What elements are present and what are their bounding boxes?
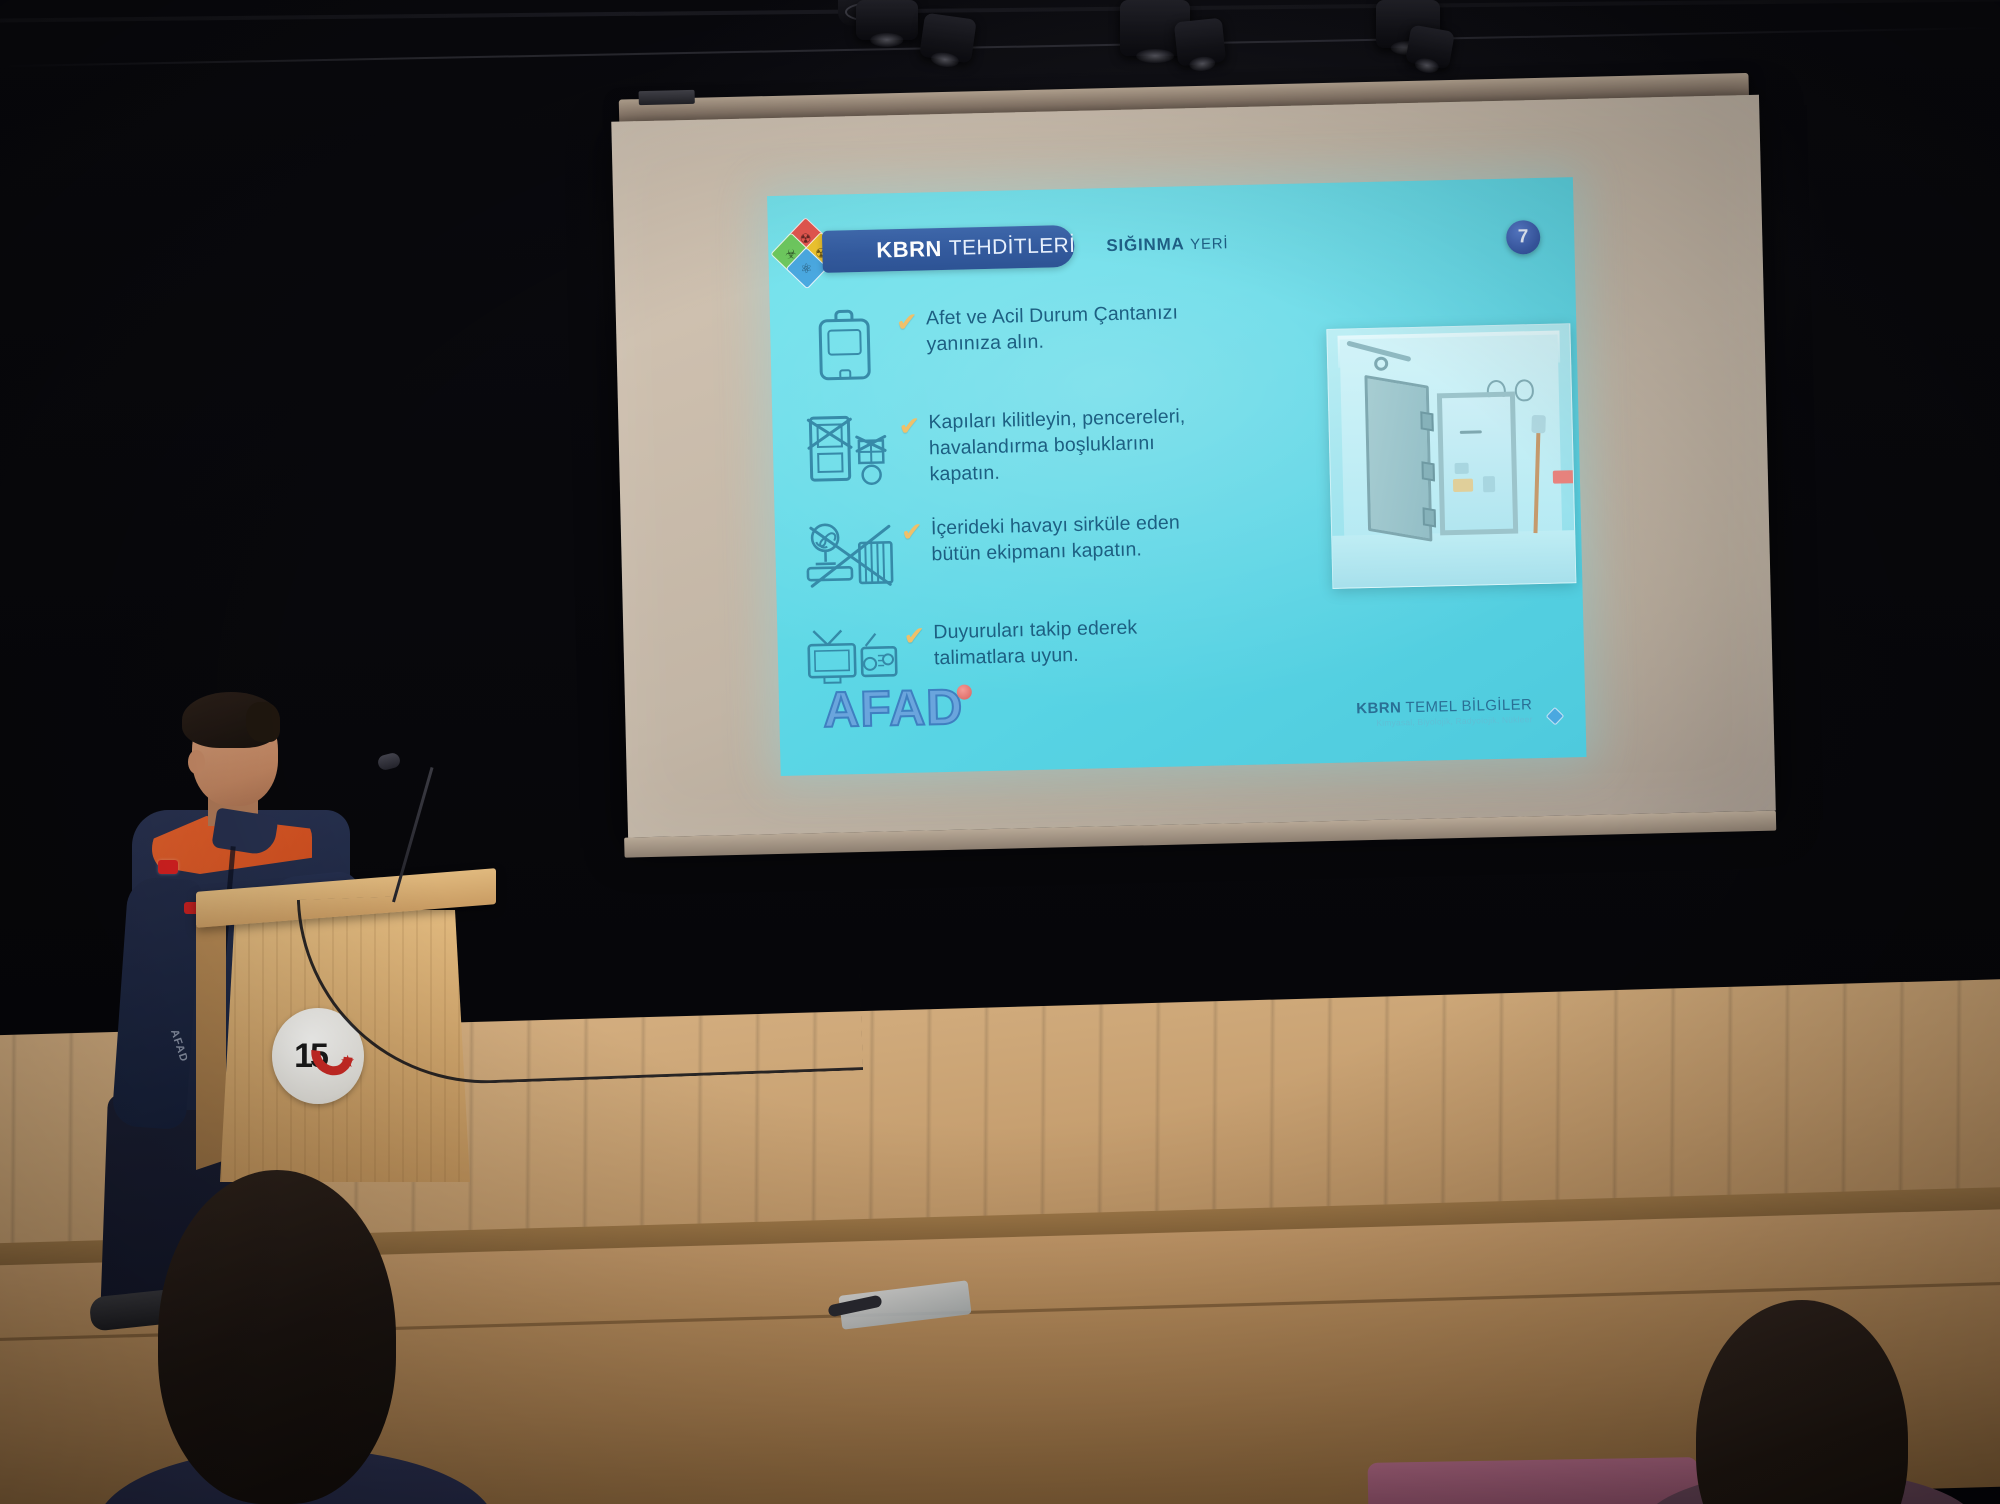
list-item: ✔ İçerideki havayı sirküle eden bütün ek…	[797, 505, 1319, 595]
bullet-text: Afet ve Acil Durum Çantanızı yanınıza al…	[926, 297, 1227, 358]
closed-door-window-icon	[794, 409, 900, 489]
footer-brand-bold: KBRN	[1356, 699, 1401, 717]
fan-ac-radiator-off-icon	[797, 515, 903, 595]
bullet-text: Kapıları kilitleyin, pencereleri, havala…	[928, 401, 1230, 488]
afad-logo: AFAD	[822, 678, 963, 739]
checkmark-icon: ✔	[903, 622, 934, 649]
podium-side	[196, 916, 226, 1170]
presenter-ear	[188, 750, 205, 774]
slide-title-plate: KBRN TEHDİTLERİ	[822, 225, 1075, 273]
bullet-text: İçerideki havayı sirküle eden bütün ekip…	[931, 507, 1232, 568]
footer-brand-normal: TEMEL BİLGİLER	[1405, 696, 1532, 716]
turkish-flag-patch-icon	[158, 860, 178, 874]
projection-screen-assembly: ☢ ☣ ☢ ⚛ KBRN TEHDİTLERİ SIĞINMA YERİ 7	[611, 72, 1790, 899]
stage-light-icon	[1174, 18, 1226, 67]
projected-slide: ☢ ☣ ☢ ⚛ KBRN TEHDİTLERİ SIĞINMA YERİ 7	[767, 177, 1586, 776]
slide-page-number-badge: 7	[1506, 220, 1541, 255]
footer-subtitle: Kimyasal, Biyolojik, Radyolojik, Nükleer	[1357, 715, 1533, 728]
slide-subtitle-bold: SIĞINMA	[1106, 234, 1185, 255]
list-item: ✔ Kapıları kilitleyin, pencereleri, hava…	[794, 399, 1316, 491]
checkmark-icon: ✔	[901, 518, 932, 545]
screen-housing-tab	[639, 90, 695, 105]
slide-title-normal: TEHDİTLERİ	[949, 234, 1076, 261]
stage-light-icon	[919, 13, 977, 64]
projection-screen-canvas: ☢ ☣ ☢ ⚛ KBRN TEHDİTLERİ SIĞINMA YERİ 7	[611, 95, 1776, 838]
stage-light-icon	[856, 0, 918, 40]
checkmark-icon: ✔	[898, 412, 929, 439]
shelter-room-photo	[1326, 323, 1576, 589]
stage-light-icon	[1405, 24, 1455, 69]
slide-title-bold: KBRN	[876, 236, 942, 264]
slide-subtitle: SIĞINMA YERİ	[1106, 233, 1229, 256]
slide-bullet-list: ✔ Afet ve Acil Durum Çantanızı yanınıza …	[792, 295, 1322, 725]
list-item: ✔ Afet ve Acil Durum Çantanızı yanınıza …	[792, 295, 1314, 385]
bullet-text: Duyuruları takip ederek talimatlara uyun…	[933, 611, 1234, 672]
kbrn-diamond-small-icon	[1541, 697, 1568, 724]
conference-hall-scene: ☢ ☣ ☢ ⚛ KBRN TEHDİTLERİ SIĞINMA YERİ 7	[0, 0, 2000, 1504]
emergency-bag-icon	[792, 305, 898, 385]
slide-subtitle-normal: YERİ	[1190, 235, 1229, 253]
slide-footer-right: KBRN TEMEL BİLGİLER Kimyasal, Biyolojik,…	[1356, 696, 1568, 728]
auditorium-seat	[1368, 1457, 1699, 1504]
presenter-hair	[246, 702, 280, 742]
checkmark-icon: ✔	[896, 308, 927, 335]
audience-member-head	[158, 1170, 396, 1504]
star-icon: ★	[340, 1052, 355, 1072]
